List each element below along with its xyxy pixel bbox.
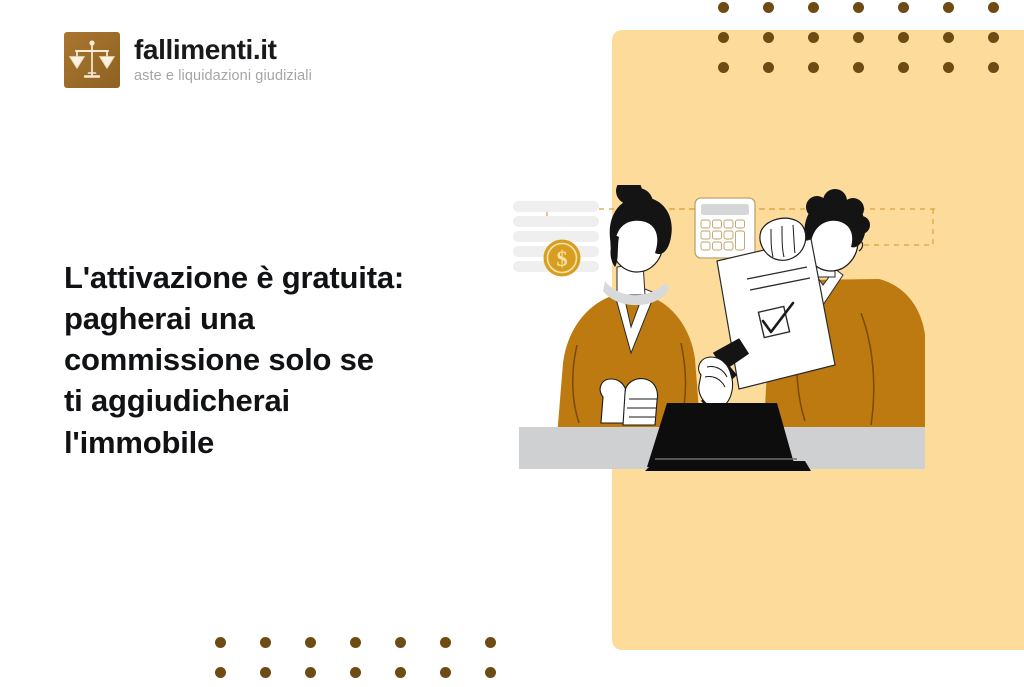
- calculator-icon: [695, 198, 755, 258]
- decorative-dot: [440, 627, 485, 657]
- decorative-dot: [395, 627, 440, 657]
- decorative-dot: [943, 22, 988, 52]
- hero-illustration: $: [505, 185, 935, 485]
- decorative-dot-grid-top: [718, 0, 1024, 82]
- decorative-dot: [898, 52, 943, 82]
- decorative-dot: [763, 52, 808, 82]
- decorative-dot: [808, 0, 853, 22]
- decorative-dot: [718, 52, 763, 82]
- decorative-dot: [350, 627, 395, 657]
- decorative-dot: [215, 627, 260, 657]
- decorative-dot: [440, 657, 485, 687]
- decorative-dot: [898, 0, 943, 22]
- decorative-dot: [808, 52, 853, 82]
- dollar-coin-icon: $: [544, 240, 581, 277]
- brand-title: fallimenti.it: [134, 36, 312, 64]
- decorative-dot: [853, 22, 898, 52]
- decorative-dot: [718, 0, 763, 22]
- decorative-dot: [763, 0, 808, 22]
- decorative-dot: [395, 657, 440, 687]
- decorative-dot: [853, 52, 898, 82]
- decorative-dot: [853, 0, 898, 22]
- scales-of-justice-icon: [64, 32, 120, 88]
- decorative-dot: [260, 627, 305, 657]
- decorative-dot: [898, 22, 943, 52]
- decorative-dot: [988, 22, 1024, 52]
- decorative-dot-grid-bottom: [215, 627, 530, 687]
- decorative-dot: [808, 22, 853, 52]
- decorative-dot: [260, 657, 305, 687]
- decorative-dot: [988, 52, 1024, 82]
- decorative-dot: [305, 657, 350, 687]
- brand-subtitle: aste e liquidazioni giudiziali: [134, 69, 312, 84]
- decorative-dot: [485, 627, 530, 657]
- page-headline: L'attivazione è gratuita: pagherai una c…: [64, 257, 484, 463]
- decorative-dot: [943, 0, 988, 22]
- decorative-dot: [943, 52, 988, 82]
- decorative-dot: [350, 657, 395, 687]
- decorative-dot: [763, 22, 808, 52]
- decorative-dot: [485, 657, 530, 687]
- decorative-dot: [988, 0, 1024, 22]
- hand-holding-document: [760, 218, 806, 260]
- brand-logo[interactable]: fallimenti.it aste e liquidazioni giudiz…: [64, 32, 312, 88]
- decorative-dot: [718, 22, 763, 52]
- svg-text:$: $: [557, 246, 568, 271]
- decorative-dot: [305, 627, 350, 657]
- decorative-dot: [215, 657, 260, 687]
